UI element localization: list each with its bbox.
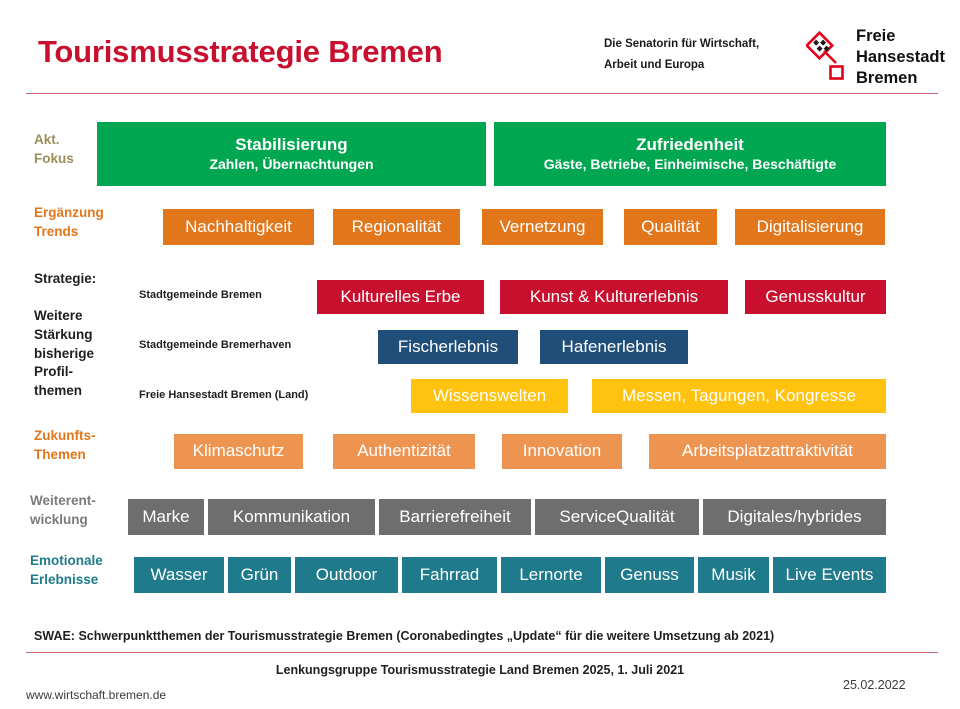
strategie-box-hafenerlebnis[interactable]: Hafenerlebnis [540, 330, 688, 364]
emotion-box-lernorte[interactable]: Lernorte [501, 557, 601, 593]
emotion-box-musik[interactable]: Musik [698, 557, 769, 593]
zukunft-box-klimaschutz[interactable]: Klimaschutz [174, 434, 303, 469]
trend-box-regionalitaet[interactable]: Regionalität [333, 209, 460, 245]
strategie-sublabel-freie-hansestadt-bremen: Freie Hansestadt Bremen (Land) [139, 389, 308, 401]
page-title: Tourismusstrategie Bremen [38, 34, 442, 70]
emotion-box-live-events[interactable]: Live Events [773, 557, 886, 593]
footer-divider [26, 652, 938, 653]
bremen-logo-text: Freie Hansestadt Bremen [856, 26, 945, 88]
strategie-box-wissenswelten[interactable]: Wissenswelten [411, 379, 568, 413]
fokus-box-zufriedenheit[interactable]: Zufriedenheit Gäste, Betriebe, Einheimis… [494, 122, 886, 186]
row-label-zukunfts-themen: Zukunfts- Themen [34, 426, 134, 464]
senator-line-2: Arbeit und Europa [604, 55, 814, 76]
row-label-ergaenzung-trends: Ergänzung Trends [34, 203, 134, 241]
emotion-box-outdoor[interactable]: Outdoor [295, 557, 398, 593]
trend-box-nachhaltigkeit[interactable]: Nachhaltigkeit [163, 209, 314, 245]
weiterentwicklung-box-digitales-hybrides[interactable]: Digitales/hybrides [703, 499, 886, 535]
logo-line-2: Hansestadt [856, 47, 945, 68]
emotion-box-gruen[interactable]: Grün [228, 557, 291, 593]
trend-box-vernetzung[interactable]: Vernetzung [482, 209, 603, 245]
zukunft-box-innovation[interactable]: Innovation [502, 434, 622, 469]
strategie-box-genusskultur[interactable]: Genusskultur [745, 280, 886, 314]
fokus-box-stabilisierung[interactable]: Stabilisierung Zahlen, Übernachtungen [97, 122, 486, 186]
logo-line-3: Bremen [856, 68, 945, 89]
fokus-box-zufriedenheit-subtitle: Gäste, Betriebe, Einheimische, Beschäfti… [544, 156, 837, 173]
fokus-box-stabilisierung-title: Stabilisierung [209, 135, 373, 156]
zukunft-box-arbeitsplatzattraktivitaet[interactable]: Arbeitsplatzattraktivität [649, 434, 886, 469]
weiterentwicklung-box-servicequalitaet[interactable]: ServiceQualität [535, 499, 699, 535]
fokus-box-stabilisierung-subtitle: Zahlen, Übernachtungen [209, 156, 373, 173]
strategie-box-kunst-kulturerlebnis[interactable]: Kunst & Kulturerlebnis [500, 280, 728, 314]
bremen-logo: Freie Hansestadt Bremen [806, 26, 954, 88]
strategie-box-kulturelles-erbe[interactable]: Kulturelles Erbe [317, 280, 484, 314]
row-label-strategie: Strategie: Weitere Stärkung bisherige Pr… [34, 270, 138, 400]
strategie-box-messen-tagungen-kongresse[interactable]: Messen, Tagungen, Kongresse [592, 379, 886, 413]
weiterentwicklung-box-kommunikation[interactable]: Kommunikation [208, 499, 375, 535]
trend-box-qualitaet[interactable]: Qualität [624, 209, 717, 245]
footer-date: 25.02.2022 [843, 678, 906, 692]
bremen-key-icon [806, 30, 854, 86]
footer-website-url[interactable]: www.wirtschaft.bremen.de [26, 688, 166, 702]
slide-canvas: Tourismusstrategie Bremen Die Senatorin … [0, 0, 960, 709]
footer-working-group: Lenkungsgruppe Tourismusstrategie Land B… [0, 663, 960, 677]
strategie-sublabel-stadtgemeinde-bremen: Stadtgemeinde Bremen [139, 289, 262, 301]
senator-department: Die Senatorin für Wirtschaft, Arbeit und… [604, 34, 814, 77]
row-label-aktueller-fokus: Akt. Fokus [34, 130, 104, 168]
emotion-box-wasser[interactable]: Wasser [134, 557, 224, 593]
emotion-box-fahrrad[interactable]: Fahrrad [402, 557, 497, 593]
fokus-box-zufriedenheit-title: Zufriedenheit [544, 135, 837, 156]
strategie-box-fischerlebnis[interactable]: Fischerlebnis [378, 330, 518, 364]
row-label-weiterentwicklung: Weiterent- wicklung [30, 491, 130, 529]
senator-line-1: Die Senatorin für Wirtschaft, [604, 34, 814, 55]
zukunft-box-authentizitaet[interactable]: Authentizität [333, 434, 475, 469]
emotion-box-genuss[interactable]: Genuss [605, 557, 694, 593]
weiterentwicklung-box-barrierefreiheit[interactable]: Barrierefreiheit [379, 499, 531, 535]
row-label-emotionale-erlebnisse: Emotionale Erlebnisse [30, 551, 134, 589]
logo-line-1: Freie [856, 26, 945, 47]
trend-box-digitalisierung[interactable]: Digitalisierung [735, 209, 885, 245]
header-divider [26, 93, 938, 94]
footer-note: SWAE: Schwerpunktthemen der Tourismusstr… [34, 629, 774, 643]
strategie-sublabel-stadtgemeinde-bremerhaven: Stadtgemeinde Bremerhaven [139, 339, 291, 351]
weiterentwicklung-box-marke[interactable]: Marke [128, 499, 204, 535]
